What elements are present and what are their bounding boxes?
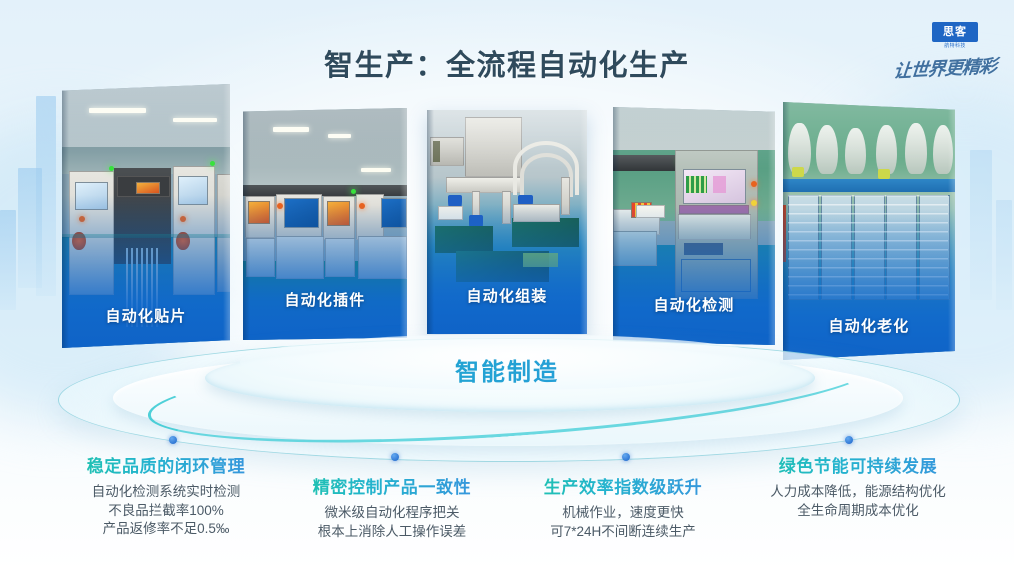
background-bar-5 xyxy=(996,200,1012,310)
benefit-block-precision: 精密控制产品一致性 微米级自动化程序把关 根本上消除人工操作误差 xyxy=(286,473,498,541)
benefit-line-precision-2: 根本上消除人工操作误差 xyxy=(286,523,498,542)
benefit-line-efficiency-1: 机械作业，速度更快 xyxy=(514,504,732,523)
slide-canvas: 智生产：全流程自动化生产 思客 航特科技 让世界更精彩 xyxy=(0,0,1014,571)
benefit-line-efficiency-2: 可7*24H不间断连续生产 xyxy=(514,523,732,542)
panel-caption-smt: 自动化贴片 xyxy=(62,305,230,326)
stage-platform: 智能制造 xyxy=(0,330,1014,470)
panel-automated-smt[interactable]: 自动化贴片 xyxy=(62,84,230,348)
panel-automated-aging[interactable]: 自动化老化 xyxy=(783,102,955,360)
panel-automated-assembly[interactable]: 自动化组装 xyxy=(427,110,587,334)
stage-center-label: 智能制造 xyxy=(0,352,1014,387)
benefit-heading-green: 绿色节能可持续发展 xyxy=(740,452,976,477)
logo-mark-subtitle: 航特科技 xyxy=(932,42,978,50)
benefit-line-green-2: 全生命周期成本优化 xyxy=(740,502,976,521)
panel-caption-insertion: 自动化插件 xyxy=(243,289,407,310)
benefit-line-quality-2: 不良品拦截率100% xyxy=(60,502,272,521)
stage-node-dot-1 xyxy=(169,436,177,444)
background-bar-2 xyxy=(36,96,56,296)
panel-automated-insertion[interactable]: 自动化插件 xyxy=(243,108,407,340)
benefit-block-quality: 稳定品质的闭环管理 自动化检测系统实时检测 不良品拦截率100% 产品返修率不足… xyxy=(60,452,272,539)
benefit-block-green: 绿色节能可持续发展 人力成本降低，能源结构优化 全生命周期成本优化 xyxy=(740,452,976,520)
brand-logo: 思客 航特科技 让世界更精彩 xyxy=(888,22,996,84)
benefit-line-quality-3: 产品返修率不足0.5‰ xyxy=(60,520,272,539)
panel-automated-inspection[interactable]: 自动化检测 xyxy=(613,107,775,345)
benefit-line-quality-1: 自动化检测系统实时检测 xyxy=(60,483,272,502)
stage-node-dot-3 xyxy=(622,453,630,461)
logo-mark: 思客 xyxy=(932,22,978,42)
benefit-heading-quality: 稳定品质的闭环管理 xyxy=(60,452,272,477)
page-title: 智生产：全流程自动化生产 xyxy=(0,42,1014,84)
background-bar-3 xyxy=(0,210,16,310)
stage-node-dot-4 xyxy=(845,436,853,444)
benefit-block-efficiency: 生产效率指数级跃升 机械作业，速度更快 可7*24H不间断连续生产 xyxy=(514,473,732,541)
panel-caption-inspection: 自动化检测 xyxy=(613,294,775,315)
background-bar-4 xyxy=(970,150,992,300)
benefit-line-green-1: 人力成本降低，能源结构优化 xyxy=(740,483,976,502)
benefit-heading-efficiency: 生产效率指数级跃升 xyxy=(514,473,732,498)
benefit-heading-precision: 精密控制产品一致性 xyxy=(286,473,498,498)
panel-caption-assembly: 自动化组装 xyxy=(427,285,587,306)
stage-node-dot-2 xyxy=(391,453,399,461)
benefit-line-precision-1: 微米级自动化程序把关 xyxy=(286,504,498,523)
logo-calligraphy: 让世界更精彩 xyxy=(886,52,997,88)
